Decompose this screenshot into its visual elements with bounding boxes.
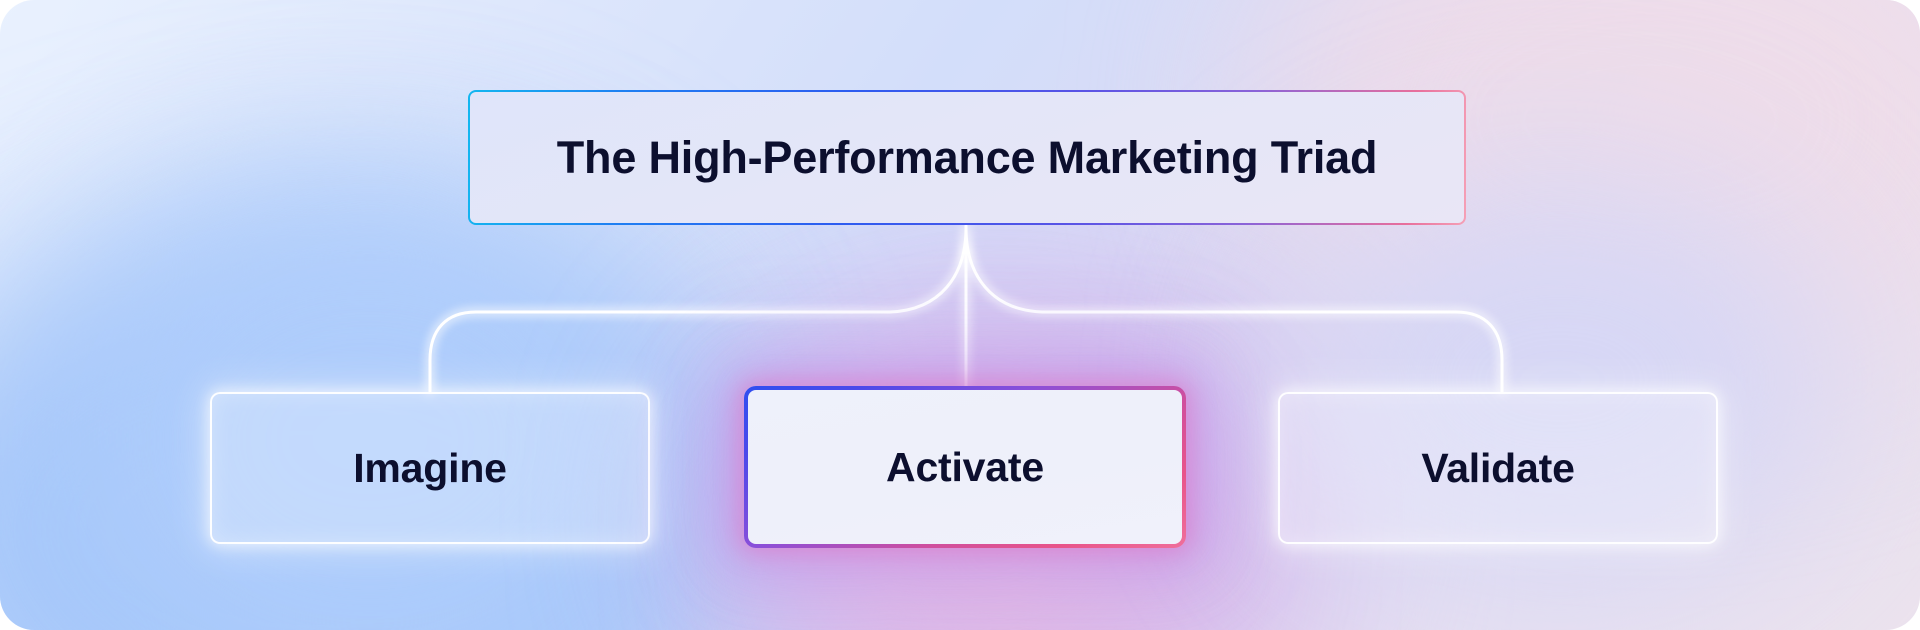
node-activate-inner: Activate (748, 390, 1182, 544)
node-imagine-label: Imagine (353, 445, 507, 492)
node-title-inner: The High-Performance Marketing Triad (470, 92, 1464, 223)
node-validate[interactable]: Validate (1278, 392, 1718, 544)
node-title[interactable]: The High-Performance Marketing Triad (468, 90, 1466, 225)
node-validate-label: Validate (1421, 445, 1574, 492)
node-title-label: The High-Performance Marketing Triad (557, 132, 1377, 184)
diagram-canvas: The High-Performance Marketing Triad Ima… (0, 0, 1920, 630)
node-activate[interactable]: Activate (744, 386, 1186, 548)
node-activate-label: Activate (886, 444, 1044, 491)
node-imagine[interactable]: Imagine (210, 392, 650, 544)
